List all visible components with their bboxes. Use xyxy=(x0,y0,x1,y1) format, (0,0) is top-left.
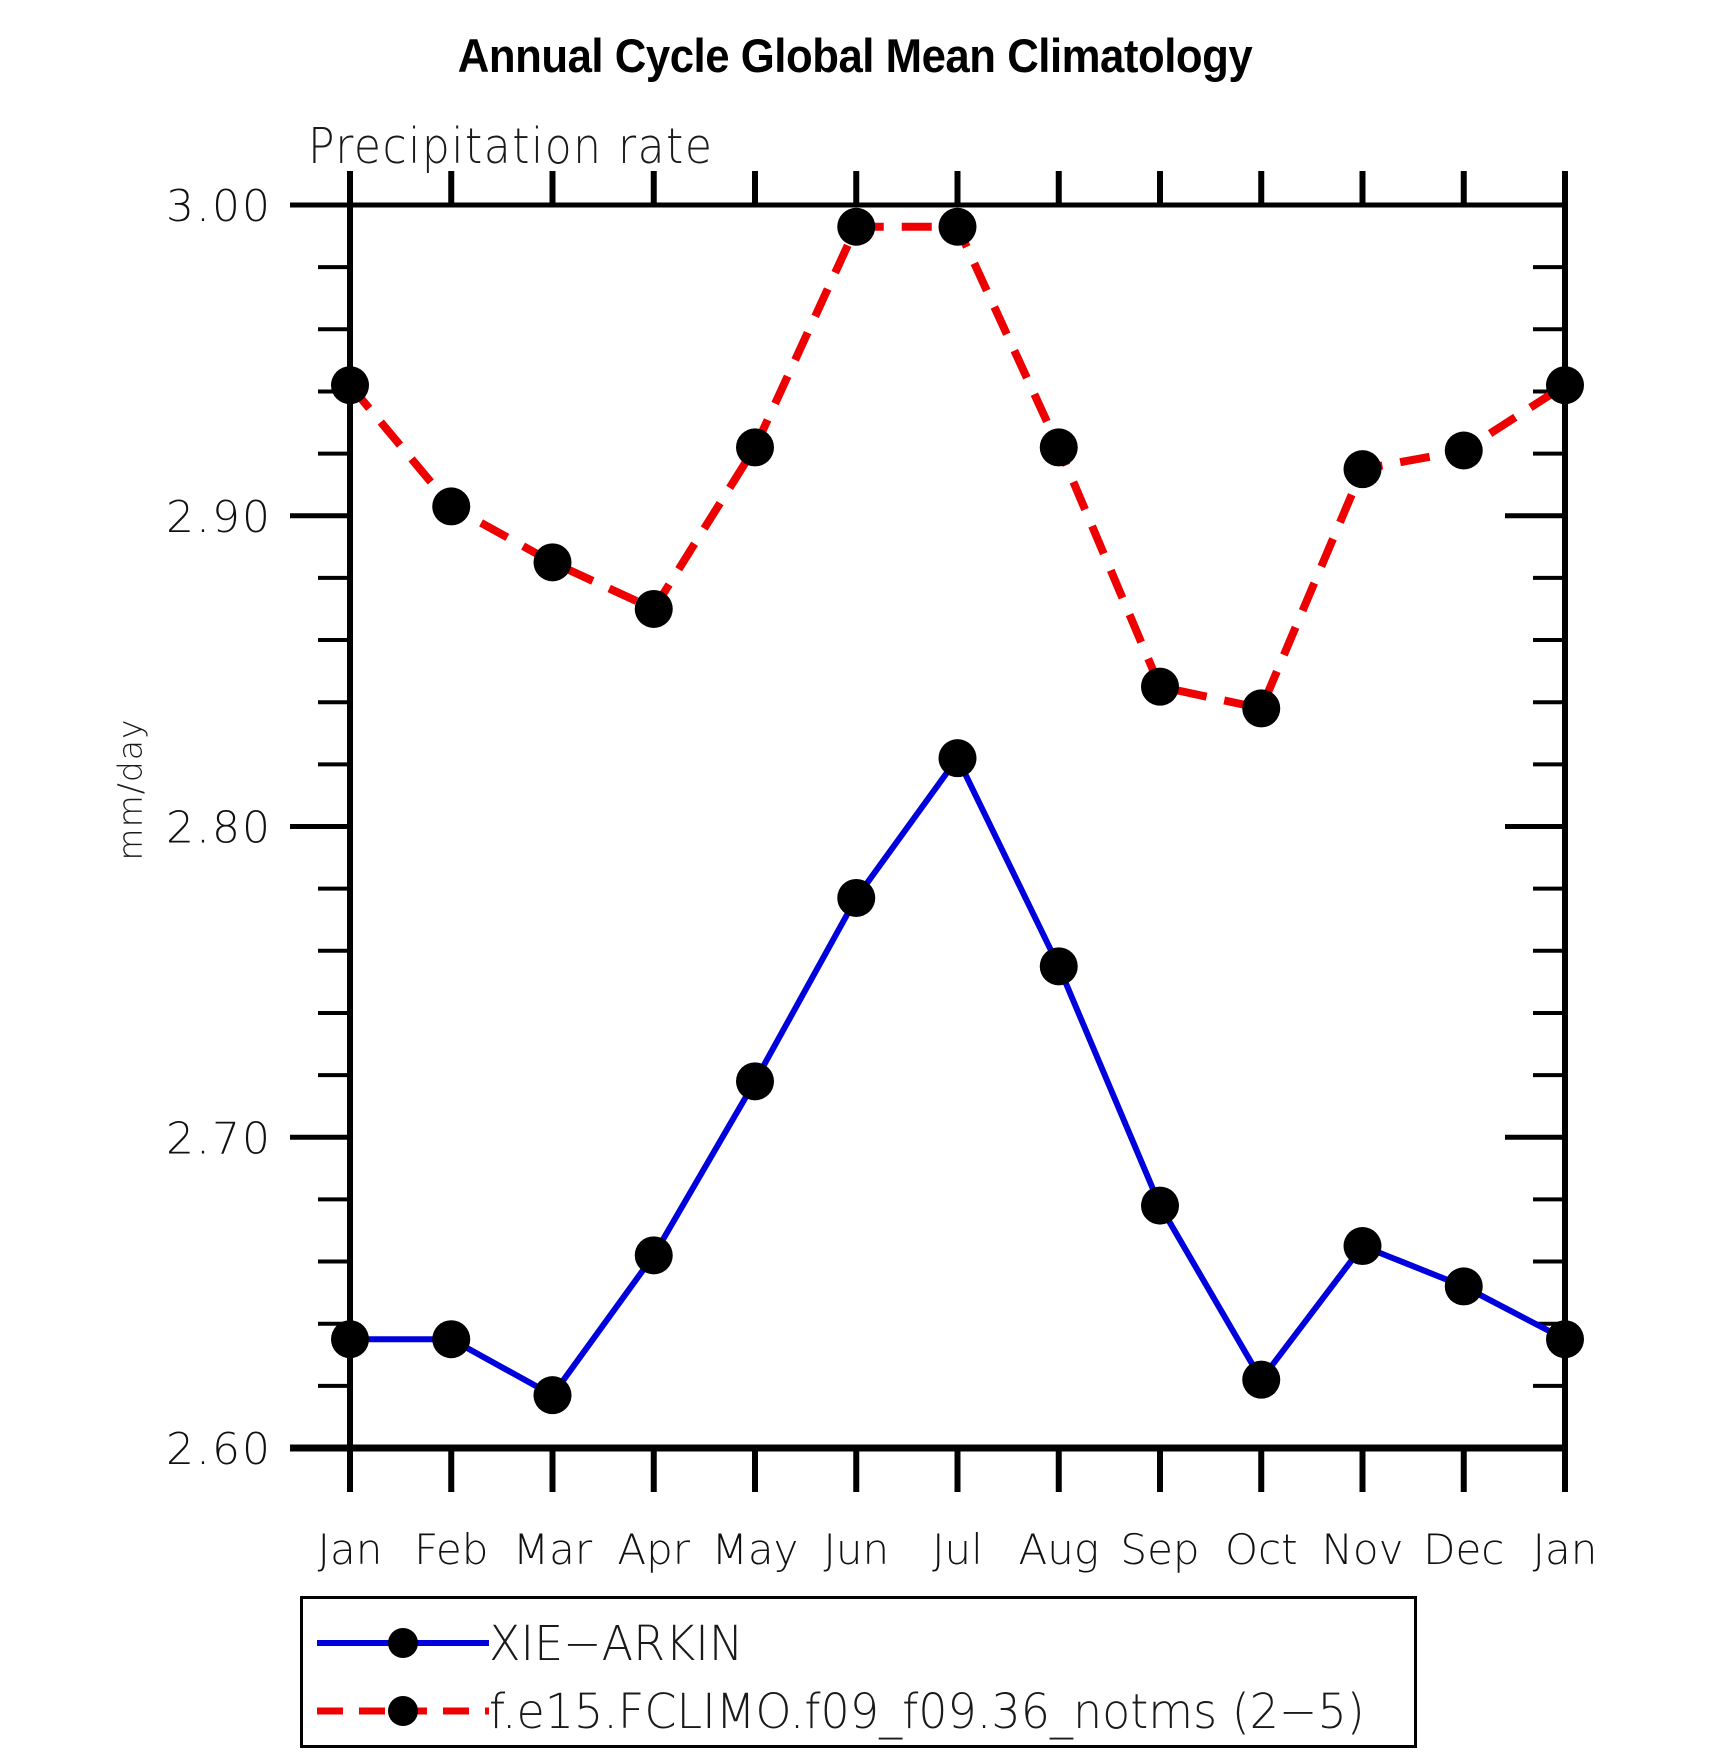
x-tick-label: Jun xyxy=(823,1525,889,1574)
x-tick-label: Jul xyxy=(932,1525,983,1574)
data-point xyxy=(736,428,774,466)
y-tick-label: 2.90 xyxy=(166,492,272,543)
y-tick-label: 3.00 xyxy=(166,181,272,232)
data-point xyxy=(1242,689,1280,727)
y-tick-labels: 2.602.702.802.903.00 xyxy=(166,181,272,1475)
data-point xyxy=(432,487,470,525)
chart-canvas: Annual Cycle Global Mean Climatology Pre… xyxy=(0,0,1710,1762)
data-point xyxy=(1344,1227,1382,1265)
x-tick-label: Mar xyxy=(513,1525,593,1574)
y-tick-label: 2.80 xyxy=(166,803,272,854)
x-tick-label: Oct xyxy=(1225,1525,1298,1574)
series-layer xyxy=(331,208,1584,1414)
legend-label-0: XIE−ARKIN xyxy=(489,1615,743,1672)
data-point xyxy=(331,1320,369,1358)
x-tick-label: Aug xyxy=(1018,1525,1099,1574)
data-point xyxy=(736,1062,774,1100)
x-tick-label: May xyxy=(712,1525,799,1574)
data-point xyxy=(331,366,369,404)
data-point xyxy=(1040,428,1078,466)
data-point xyxy=(1445,1267,1483,1305)
x-tick-label: Nov xyxy=(1322,1525,1404,1574)
data-point xyxy=(837,879,875,917)
x-tick-label: Jan xyxy=(318,1525,383,1574)
legend-swatch-0 xyxy=(317,1623,489,1663)
data-point xyxy=(1141,1187,1179,1225)
x-tick-labels: JanFebMarAprMayJunJulAugSepOctNovDecJan xyxy=(318,1525,1598,1574)
data-point xyxy=(1445,431,1483,469)
x-tick-label: Sep xyxy=(1120,1525,1199,1574)
x-tick-label: Dec xyxy=(1423,1525,1504,1574)
series-line-1 xyxy=(350,227,1565,709)
data-point xyxy=(1344,450,1382,488)
data-point xyxy=(837,208,875,246)
x-tick-label: Feb xyxy=(414,1525,488,1574)
data-point xyxy=(1546,1320,1584,1358)
data-point xyxy=(635,590,673,628)
data-point xyxy=(534,543,572,581)
data-point xyxy=(939,739,977,777)
data-point xyxy=(1141,668,1179,706)
y-tick-label: 2.60 xyxy=(166,1424,272,1475)
data-point xyxy=(432,1320,470,1358)
data-point xyxy=(939,208,977,246)
legend-label-1: f.e15.FCLIMO.f09_f09.36_notms (2−5) xyxy=(489,1683,1365,1740)
legend-item-1[interactable]: f.e15.FCLIMO.f09_f09.36_notms (2−5) xyxy=(303,1675,1414,1747)
y-tick-label: 2.70 xyxy=(166,1113,272,1164)
data-point xyxy=(1242,1361,1280,1399)
legend-item-0[interactable]: XIE−ARKIN xyxy=(303,1607,1414,1679)
data-point xyxy=(1040,947,1078,985)
axis-layer xyxy=(290,171,1565,1492)
x-tick-label: Jan xyxy=(1533,1525,1598,1574)
series-line-0 xyxy=(350,758,1565,1395)
data-point xyxy=(1546,366,1584,404)
data-point xyxy=(534,1376,572,1414)
legend: XIE−ARKIN f.e15.FCLIMO.f09_f09.36_notms … xyxy=(300,1596,1417,1748)
x-tick-label: Apr xyxy=(617,1525,690,1574)
legend-swatch-1 xyxy=(317,1691,489,1731)
data-point xyxy=(635,1236,673,1274)
plot-area: 2.602.702.802.903.00 JanFebMarAprMayJunJ… xyxy=(0,0,1710,1600)
